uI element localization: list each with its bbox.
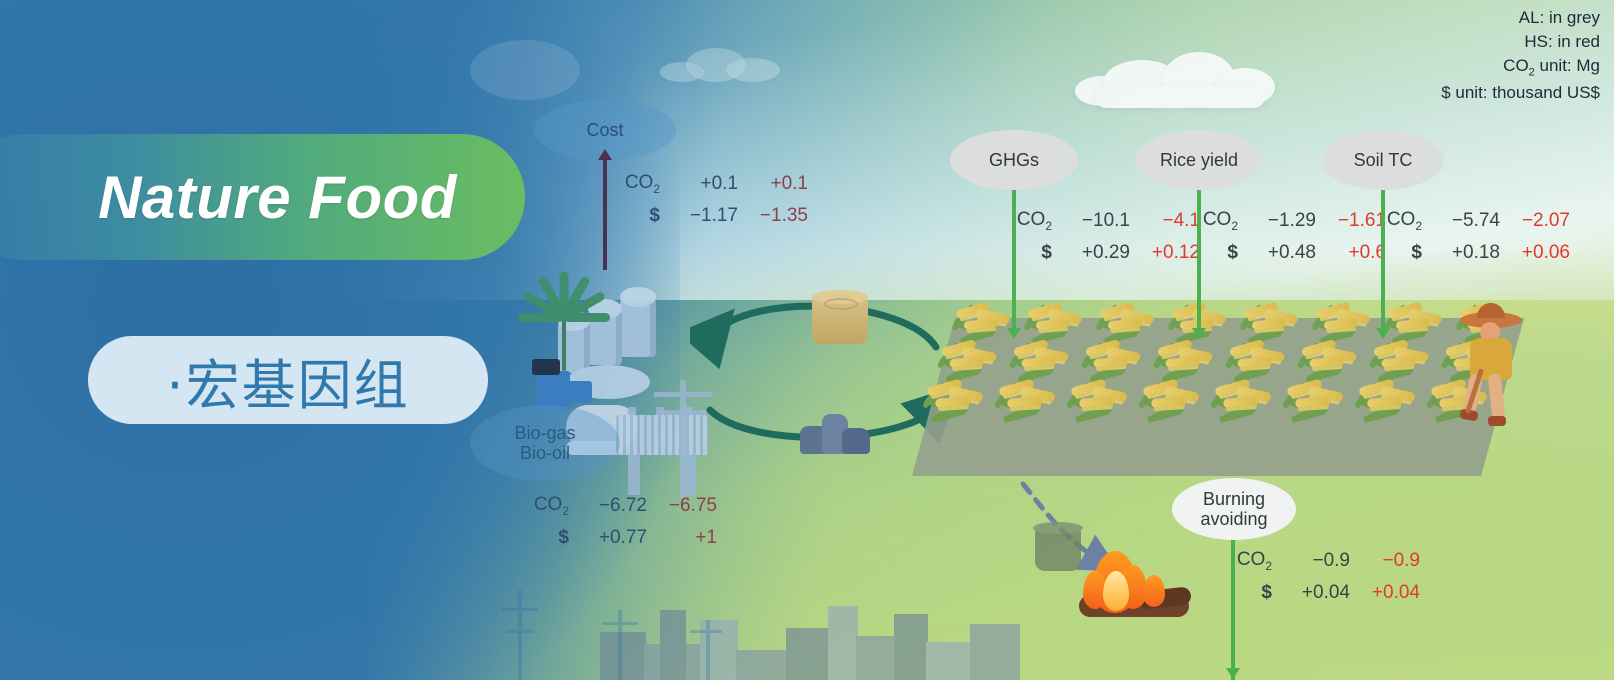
node-rice-yield-label: Rice yield (1160, 150, 1238, 170)
dollar-hs-value: +0.06 (1500, 242, 1570, 264)
co2-label: CO2 (1228, 549, 1272, 573)
dollar-hs-value: +1 (647, 527, 717, 549)
node-soil-tc-label: Soil TC (1354, 150, 1413, 170)
node-ghgs[interactable]: GHGs (950, 130, 1078, 190)
dollar-hs-value: +0.12 (1130, 242, 1200, 264)
values-soil-tc: CO2 −5.74 −2.07 $ +0.18 +0.06 (1378, 205, 1570, 269)
value-row-dollar: $ +0.04 +0.04 (1228, 577, 1420, 609)
co2-al-value: −0.9 (1272, 550, 1350, 572)
co2-hs-value: +0.1 (738, 173, 808, 195)
co2-hs-value: −1.61 (1316, 210, 1386, 232)
dollar-al-value: +0.48 (1238, 242, 1316, 264)
farmer-illustration (1448, 308, 1548, 426)
dollar-label: $ (1194, 242, 1238, 264)
co2-hs-value: −4.1 (1130, 210, 1200, 232)
co2-al-value: +0.1 (660, 173, 738, 195)
node-cost-label: Cost (586, 120, 623, 140)
rice-plant-icon (917, 379, 994, 437)
legend-dollar-unit: $ unit: thousand US$ (1441, 81, 1600, 105)
biochar-icon (800, 412, 870, 454)
value-row-co2: CO2 −10.1 −4.1 (1008, 205, 1200, 237)
dollar-label: $ (525, 527, 569, 549)
node-soil-tc[interactable]: Soil TC (1322, 130, 1444, 190)
co2-label: CO2 (1378, 209, 1422, 233)
legend-hs: HS: in red (1441, 30, 1600, 54)
values-ghgs: CO2 −10.1 −4.1 $ +0.29 +0.12 (1008, 205, 1200, 269)
dollar-label: $ (1378, 242, 1422, 264)
co2-label: CO2 (1194, 209, 1238, 233)
dollar-al-value: −1.17 (660, 205, 738, 227)
values-bio-gas-oil: CO2 −6.72 −6.75 $ +0.77 +1 (525, 490, 717, 554)
node-burning-avoiding[interactable]: Burning avoiding (1172, 478, 1296, 540)
value-row-dollar: $ +0.18 +0.06 (1378, 237, 1570, 269)
power-pylon-icon (690, 620, 726, 680)
rice-plant-icon (1205, 379, 1282, 437)
co2-hs-value: −2.07 (1500, 210, 1570, 232)
dollar-al-value: +0.18 (1422, 242, 1500, 264)
rice-plant-icon (1061, 379, 1138, 437)
dollar-al-value: +0.29 (1052, 242, 1130, 264)
co2-label: CO2 (616, 172, 660, 196)
co2-al-value: −6.72 (569, 495, 647, 517)
dollar-hs-value: −1.35 (738, 205, 808, 227)
co2-al-value: −1.29 (1238, 210, 1316, 232)
dollar-label: $ (616, 205, 660, 227)
cloud-icon (660, 48, 780, 82)
rice-plant-icon (1349, 379, 1426, 437)
co2-al-value: −5.74 (1422, 210, 1500, 232)
legend: AL: in grey HS: in red CO2 unit: Mg $ un… (1441, 6, 1600, 105)
value-row-co2: CO2 −0.9 −0.9 (1228, 545, 1420, 577)
rice-plant-icon (989, 379, 1066, 437)
node-burning-label-line2: avoiding (1200, 509, 1267, 529)
legend-co2-text: CO (1503, 56, 1529, 75)
rice-paddy-field (912, 318, 1524, 476)
value-row-dollar: $ +0.48 +0.6 (1194, 237, 1386, 269)
co2-al-value: −10.1 (1052, 210, 1130, 232)
dollar-label: $ (1228, 582, 1272, 604)
values-rice-yield: CO2 −1.29 −1.61 $ +0.48 +0.6 (1194, 205, 1386, 269)
values-burning-avoiding: CO2 −0.9 −0.9 $ +0.04 +0.04 (1228, 545, 1420, 609)
node-bio-label-line2: Bio-oil (520, 443, 570, 463)
chinese-brand-pill: ·宏基因组 (88, 336, 488, 424)
utility-pole-icon (680, 380, 686, 498)
legend-al: AL: in grey (1441, 6, 1600, 30)
value-row-dollar: $ −1.17 −1.35 (616, 200, 808, 232)
value-row-co2: CO2 −6.72 −6.75 (525, 490, 717, 522)
journal-brand-pill: Nature Food (0, 134, 525, 260)
rice-plant-icon (1277, 379, 1354, 437)
node-bio-gas-oil[interactable]: Bio-gas Bio-oil (470, 405, 620, 481)
dollar-label: $ (1008, 242, 1052, 264)
power-pylon-icon (600, 610, 640, 680)
co2-hs-value: −6.75 (647, 495, 717, 517)
chinese-brand-label: ·宏基因组 (166, 341, 409, 420)
co2-label: CO2 (525, 494, 569, 518)
burning-fire-icon (1075, 545, 1195, 625)
rice-plant-icon (1133, 379, 1210, 437)
legend-co2-unit: CO2 unit: Mg (1441, 54, 1600, 81)
co2-label: CO2 (1008, 209, 1052, 233)
cityscape-silhouette (600, 570, 1020, 680)
node-ghgs-label: GHGs (989, 150, 1039, 170)
journal-name: Nature Food (28, 163, 457, 232)
straw-bale-icon (812, 296, 868, 344)
legend-co2-unit-text: unit: Mg (1535, 56, 1600, 75)
dollar-hs-value: +0.6 (1316, 242, 1386, 264)
value-row-dollar: $ +0.77 +1 (525, 522, 717, 554)
node-rice-yield[interactable]: Rice yield (1136, 130, 1262, 190)
value-row-co2: CO2 −1.29 −1.61 (1194, 205, 1386, 237)
values-cost: CO2 +0.1 +0.1 $ −1.17 −1.35 (616, 168, 808, 232)
cloud-icon (470, 40, 580, 100)
infographic-canvas: AL: in grey HS: in red CO2 unit: Mg $ un… (0, 0, 1614, 680)
dollar-al-value: +0.77 (569, 527, 647, 549)
power-pylon-icon (500, 590, 540, 680)
node-bio-label-line1: Bio-gas (514, 423, 575, 443)
dollar-hs-value: +0.04 (1350, 582, 1420, 604)
value-row-co2: CO2 +0.1 +0.1 (616, 168, 808, 200)
co2-hs-value: −0.9 (1350, 550, 1420, 572)
value-row-co2: CO2 −5.74 −2.07 (1378, 205, 1570, 237)
cloud-icon (1075, 52, 1275, 104)
value-row-dollar: $ +0.29 +0.12 (1008, 237, 1200, 269)
node-burning-label-line1: Burning (1203, 489, 1265, 509)
dollar-al-value: +0.04 (1272, 582, 1350, 604)
